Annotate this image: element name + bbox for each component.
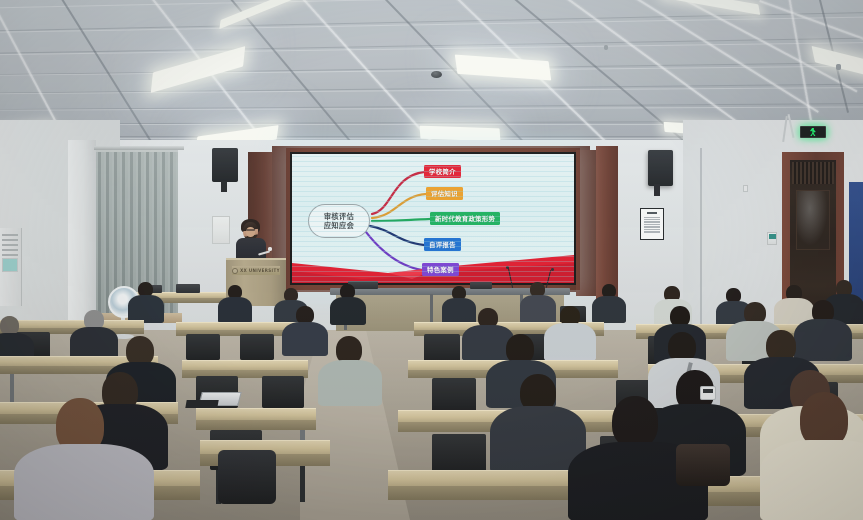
switch-indicator (769, 234, 776, 239)
student-desk (0, 320, 144, 328)
center-line-2: 应知应会 (324, 221, 354, 231)
microphone-head-icon (551, 268, 554, 271)
sprinkler-icon (836, 64, 841, 70)
wall-speaker-left (212, 148, 238, 182)
sprinkler-icon (604, 45, 608, 50)
wall-notice-frame (640, 208, 664, 240)
handbag (676, 444, 730, 486)
school-seal-icon (232, 268, 238, 274)
desk-equipment (176, 284, 200, 293)
chair (186, 334, 220, 360)
mindmap-center-node: 审核评估 应知应会 (308, 204, 370, 238)
mindmap-node-5: 特色案例 (422, 263, 459, 276)
window-curtain (96, 150, 178, 315)
chair (424, 334, 460, 362)
mindmap-node-1: 学校简介 (424, 165, 461, 178)
mindmap-node-4: 自评报告 (424, 238, 461, 251)
handbag (218, 450, 276, 504)
table-equipment (470, 282, 492, 289)
mindmap-node-3: 新时代教育政策形势 (430, 212, 500, 225)
microphone-head-icon (268, 247, 272, 251)
ac-display-panel[interactable] (2, 258, 18, 272)
speaker-mount (654, 184, 660, 196)
notebook (185, 400, 218, 408)
ceiling-detector-icon (431, 71, 442, 78)
presenter-glasses (246, 229, 255, 231)
presentation-slide: 审核评估 应知应会 学校简介 评估知识 新时代教育政策形势 自评报告 特色案例 (292, 154, 574, 283)
running-man-icon (810, 128, 817, 136)
podium-nameplate: XX UNIVERSITY (232, 266, 280, 275)
side-panel-board (212, 216, 230, 244)
mindmap-node-2: 评估知识 (426, 187, 463, 200)
hair-clip-slot (703, 389, 713, 393)
student-desk (196, 408, 316, 420)
door-glass (796, 190, 830, 250)
wall-corner (700, 148, 702, 338)
center-line-1: 审核评估 (324, 212, 354, 222)
lecture-hall-photo: 审核评估 应知应会 学校简介 评估知识 新时代教育政策形势 自评报告 特色案例 … (0, 0, 863, 520)
chair (432, 434, 486, 474)
wall-label (743, 185, 748, 192)
chair (240, 334, 274, 360)
podium-plate-text: XX UNIVERSITY (240, 268, 280, 273)
microphone-head-icon (506, 266, 509, 269)
led-display-frame: 审核评估 应知应会 学校简介 评估知识 新时代教育政策形势 自评报告 特色案例 (290, 152, 576, 285)
chair (262, 376, 304, 408)
speaker-mount (221, 181, 227, 192)
exit-sign (800, 126, 826, 138)
wall-speaker-right (648, 150, 673, 186)
chair (432, 378, 476, 412)
door-transom-grill (792, 162, 834, 184)
student-desk (182, 360, 308, 370)
